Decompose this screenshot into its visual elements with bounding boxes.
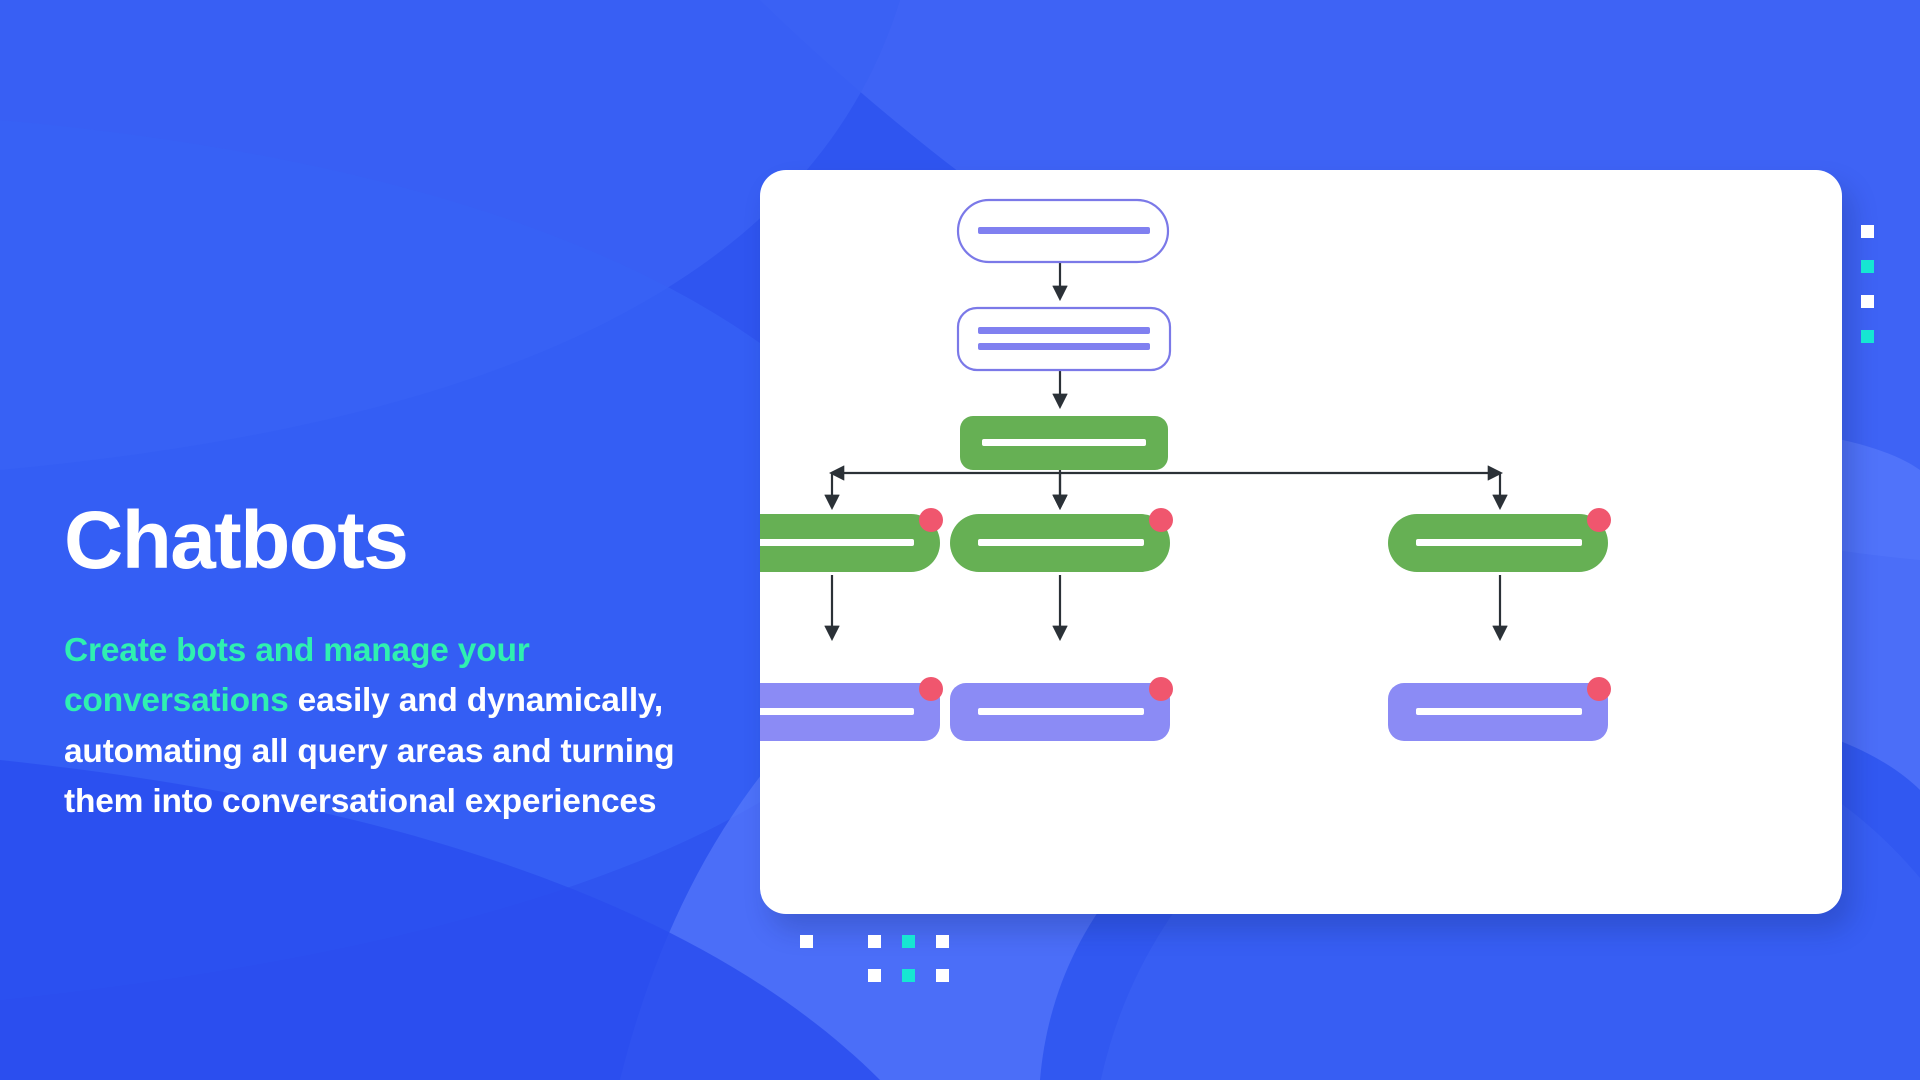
flow-node-2-shape	[958, 308, 1170, 370]
flow-node-9-badge[interactable]	[1587, 677, 1611, 701]
dot-decoration-bottom	[800, 935, 980, 995]
decoration-dot	[800, 935, 813, 948]
decoration-dot	[1825, 330, 1838, 343]
flow-node-5-bar	[978, 539, 1144, 546]
decoration-dot	[1861, 225, 1874, 238]
flow-node-7-badge[interactable]	[919, 677, 943, 701]
decoration-dot	[1825, 365, 1838, 378]
decoration-dot	[868, 969, 881, 982]
decoration-dot	[1825, 400, 1838, 413]
decoration-dot	[1825, 295, 1838, 308]
flow-node-6-bar	[1416, 539, 1582, 546]
flow-node-1-bar	[978, 227, 1150, 234]
text-block: Chatbots Create bots and manage your con…	[64, 500, 764, 827]
flow-node-7-bar	[760, 708, 914, 715]
decoration-dot	[902, 935, 915, 948]
flow-node-2[interactable]	[958, 308, 1170, 370]
flow-node-6[interactable]	[1388, 508, 1611, 572]
flow-node-5-badge[interactable]	[1149, 508, 1173, 532]
decoration-dot	[1825, 260, 1838, 273]
slide-canvas: Chatbots Create bots and manage your con…	[0, 0, 1920, 1080]
flow-node-9-bar	[1416, 708, 1582, 715]
flow-node-8[interactable]	[950, 677, 1173, 741]
decoration-dot	[1861, 330, 1874, 343]
decoration-dot	[936, 969, 949, 982]
decoration-dot	[936, 935, 949, 948]
flowchart-card	[760, 170, 1842, 914]
flow-node-8-badge[interactable]	[1149, 677, 1173, 701]
flow-node-6-badge[interactable]	[1587, 508, 1611, 532]
decoration-dot	[902, 969, 915, 982]
dot-decoration-right	[1825, 225, 1905, 415]
flow-node-2-bar-1	[978, 327, 1150, 334]
flow-node-4-bar	[760, 539, 914, 546]
decoration-dot	[1861, 295, 1874, 308]
flow-node-1[interactable]	[958, 200, 1168, 262]
flow-node-8-bar	[978, 708, 1144, 715]
subtitle-paragraph: Create bots and manage your conversation…	[64, 626, 734, 827]
decoration-dot	[1861, 260, 1874, 273]
flow-node-7[interactable]	[760, 677, 943, 741]
page-title: Chatbots	[64, 500, 764, 582]
flow-node-9[interactable]	[1388, 677, 1611, 741]
flow-node-5[interactable]	[950, 508, 1173, 572]
flowchart-diagram	[760, 170, 1842, 914]
flow-node-4-badge[interactable]	[919, 508, 943, 532]
decoration-dot	[868, 935, 881, 948]
flow-node-3-bar	[982, 439, 1146, 446]
flow-node-4[interactable]	[760, 508, 943, 572]
flow-node-3[interactable]	[960, 416, 1168, 470]
flow-node-2-bar-2	[978, 343, 1150, 350]
